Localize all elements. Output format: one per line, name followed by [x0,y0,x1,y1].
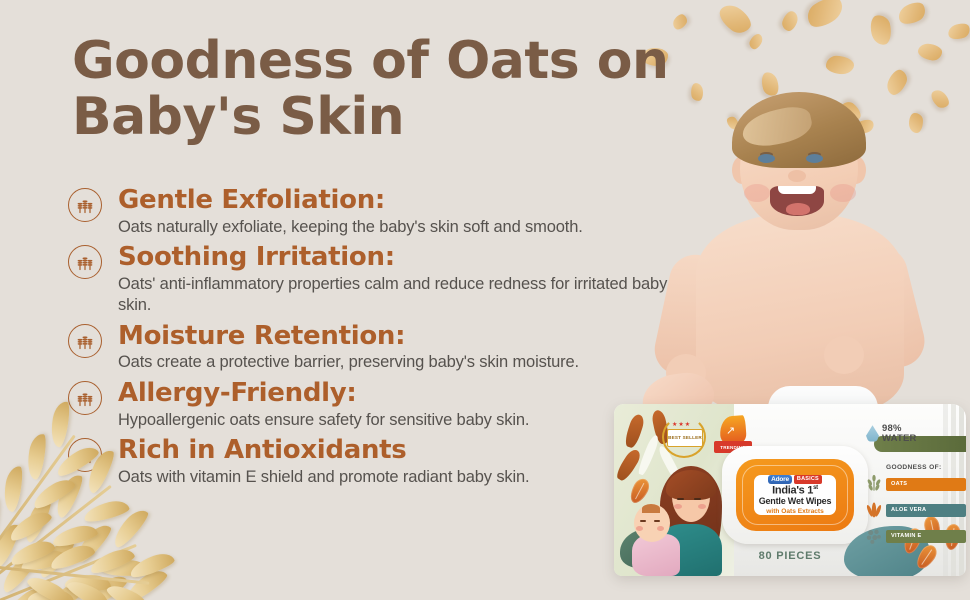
pack-lid-inner: Adore BASICS India's 1st Gentle Wet Wipe… [736,459,854,531]
oat-leaf-icon [623,413,646,449]
ingredient-row: OATS [864,474,966,494]
oat-grain-decor [51,522,100,549]
goodness-title: GOODNESS OF: [886,464,966,471]
baby-eye [806,154,823,163]
brand-logo: Adore [768,475,792,484]
vitamin-e-icon [864,526,884,546]
list-item: Moisture Retention: Oats create a protec… [68,322,678,373]
ingredient-label: VITAMIN E [886,530,966,543]
wheat-icon [68,324,102,358]
benefit-description: Oats with vitamin E shield and promote r… [118,467,678,488]
oat-flake-icon [780,9,800,33]
oat-grain-decor [83,571,130,600]
water-claim-text: 98% WATER [882,424,917,443]
oat-grain-decor [25,432,49,480]
oat-stem [0,435,76,582]
oat-grain-decor [4,582,51,600]
oat-grain-decor [6,507,54,544]
list-item: Allergy-Friendly: Hypoallergenic oats en… [68,379,678,430]
product-title-line2: Gentle Wet Wipes [759,497,832,507]
oat-grain-decor [48,541,97,572]
oat-stem [0,563,149,585]
brand-row: Adore BASICS [768,475,822,484]
baby-cheek [830,184,856,202]
list-item: Gentle Exfoliation: Oats naturally exfol… [68,186,678,237]
baby-hair [732,92,866,168]
benefit-title: Soothing Irritation: [118,243,678,272]
oat-flake-icon [868,13,893,46]
ingredient-row: ALOE VERA [864,500,966,520]
aloe-leaf-icon [864,500,884,520]
oat-grain-decor [0,521,23,569]
oat-grain-decor [0,550,40,595]
list-item: Soothing Irritation: Oats' anti-inflamma… [68,243,678,315]
wet-wipes-pack: ★★★ BEST SELLER ↗ TRENDING Adore BASICS … [614,404,966,576]
smiling-baby-photo [648,86,948,431]
illustrated-baby-cheek [636,526,643,531]
product-title-line3: with Oats Extracts [766,508,824,516]
trend-arrow-icon: ↗ [726,424,735,437]
oat-flake-icon [895,0,929,28]
page-title: Goodness of Oats on Baby's Skin [72,34,672,145]
oat-grain-decor [20,496,55,544]
benefit-description: Hypoallergenic oats ensure safety for se… [118,410,678,431]
illustrated-baby-eye [640,520,646,522]
oat-flake-icon [825,55,854,75]
benefit-description: Oats' anti-inflammatory properties calm … [118,274,678,316]
oat-grain-decor [65,575,113,600]
baby-torso [696,214,904,414]
oat-grain-decor [127,550,176,581]
water-claim: 98% WATER [866,424,917,443]
oat-flake-icon [715,0,755,38]
oat-flake-icon [917,42,943,62]
pack-lid: Adore BASICS India's 1st Gentle Wet Wipe… [722,446,868,544]
mother-cheek [674,504,682,509]
benefit-description: Oats naturally exfoliate, keeping the ba… [118,217,678,238]
oat-flake-icon [670,12,689,32]
illustrated-baby-cheek [657,526,664,531]
oat-grain-decor [8,537,57,568]
oat-grain-decor [1,465,25,513]
mother-cheek [698,504,706,509]
best-seller-label: BEST SELLER [667,429,703,447]
ingredient-label: OATS [886,478,966,491]
oat-grain-decor [28,589,75,600]
oat-grain-decor [25,571,73,600]
oat-flake-icon [747,32,765,51]
list-item: Rich in Antioxidants Oats with vitamin E… [68,436,678,487]
illustrated-baby-hair [642,504,660,513]
oat-stem [0,544,137,600]
water-label: WATER [882,433,917,444]
benefit-description: Oats create a protective barrier, preser… [118,352,678,373]
benefit-title: Moisture Retention: [118,322,678,351]
oat-grain-decor [102,559,149,577]
ingredient-label: ALOE VERA [886,504,966,517]
baby-cheek [744,184,770,202]
oat-grain-decor [123,565,170,600]
oat-grain-decor [82,498,131,525]
ingredient-row: VITAMIN E [864,526,966,546]
wheat-icon [68,438,102,472]
oat-grain-decor [0,497,1,545]
baby-eye [758,154,775,163]
oat-grain-decor [65,574,112,592]
oat-grain-decor [88,545,137,576]
wheat-icon [68,245,102,279]
product-title-line1: India's 1st [772,485,818,497]
product-title-text: India's 1 [772,484,813,496]
baby-nose [788,170,806,182]
ordinal-suffix: st [813,485,818,491]
product-label: Adore BASICS India's 1st Gentle Wet Wipe… [754,475,836,515]
benefit-title: Gentle Exfoliation: [118,186,678,215]
benefits-list: Gentle Exfoliation: Oats naturally exfol… [68,186,678,494]
brand-sub-logo: BASICS [794,475,822,484]
best-seller-badge: ★★★ BEST SELLER [662,416,706,458]
oat-flake-icon [803,0,848,32]
benefit-title: Rich in Antioxidants [118,436,678,465]
oat-sprig-icon [864,474,884,494]
oat-grain-decor [109,505,152,550]
oat-grain-decor [43,577,90,600]
oat-grain-decor [72,520,115,565]
water-drop-icon [866,425,879,442]
stars-icon: ★★★ [672,421,691,428]
oat-stem [0,485,112,598]
goodness-section: GOODNESS OF: OATS ALOE VERA VITAMIN E [864,464,966,552]
oats-baby-wipes-banner: Goodness of Oats on Baby's Skin [0,0,970,600]
wheat-icon [68,381,102,415]
benefit-title: Allergy-Friendly: [118,379,678,408]
wheat-icon [68,188,102,222]
oat-grain-decor [105,580,153,600]
oat-flake-icon [946,21,970,42]
oat-grain-decor [34,535,77,580]
oat-grain-decor [19,547,68,574]
illustrated-baby-eye [654,520,660,522]
mother-eye [694,498,701,500]
mother-eye [677,498,684,500]
baby-mouth [770,186,824,216]
baby-fist [824,336,864,374]
pack-quantity: 80 PIECES [614,550,966,562]
